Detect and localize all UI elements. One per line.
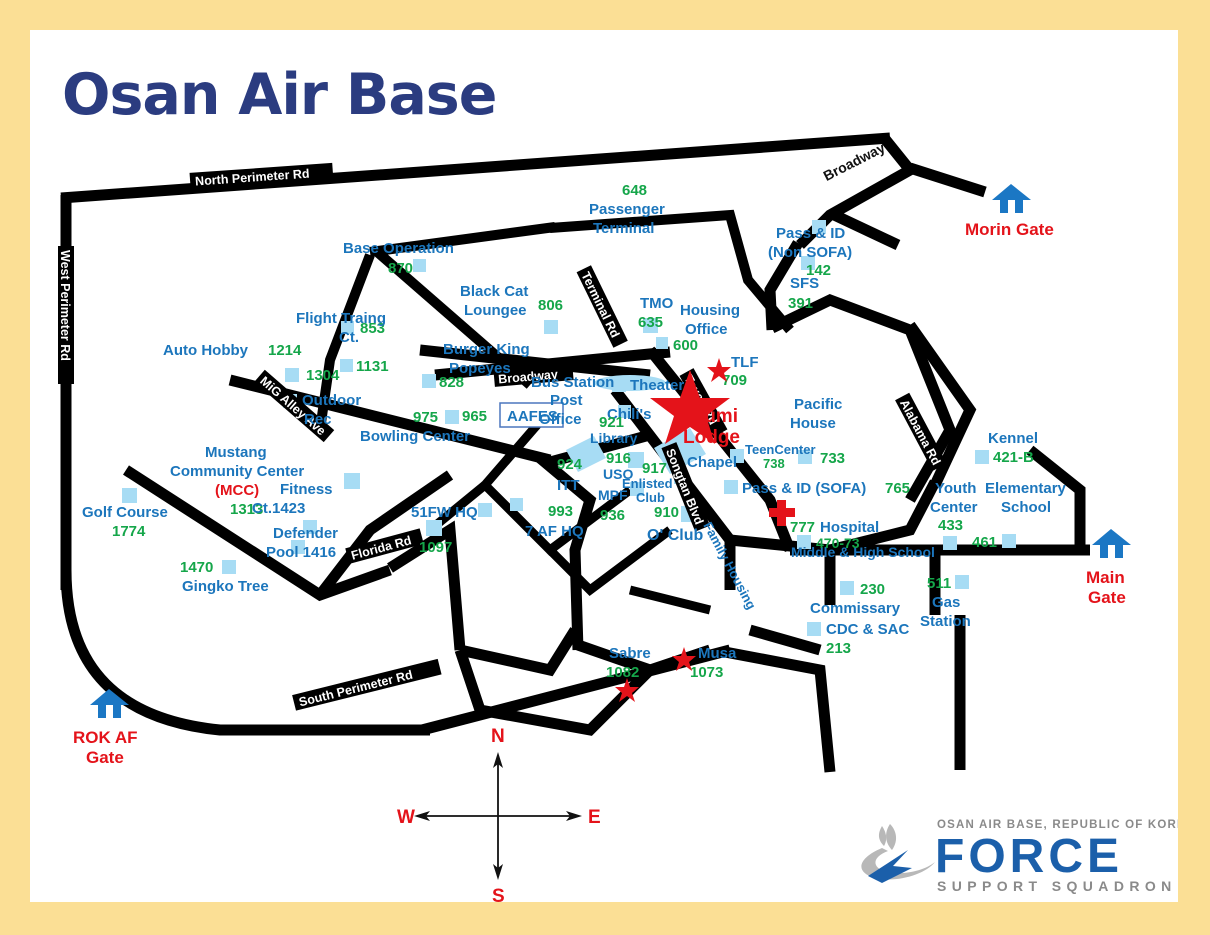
label-sabre: Sabre: [609, 645, 651, 662]
label-870: 870: [388, 260, 413, 277]
building-975: [445, 410, 459, 424]
label-outdoor-rec-2: Rec: [304, 411, 332, 428]
road-label-south-perimeter: South Perimeter Rd: [297, 668, 414, 710]
compass-west: W: [397, 807, 415, 828]
label-housing-1: Housing: [680, 302, 740, 319]
label-bowling-center: Bowling Center: [360, 428, 470, 445]
label-1082: 1082: [606, 664, 639, 681]
road-sabre-loop-w: [460, 630, 575, 670]
label-511: 511: [927, 575, 951, 592]
label-commissary: Commissary: [810, 600, 901, 617]
label-kennel: Kennel: [988, 430, 1038, 447]
label-burger-king: Burger King: [443, 341, 530, 358]
gate-arch-icon: [1092, 529, 1131, 558]
label-musa: Musa: [698, 645, 737, 662]
label-post-office-1: Post: [550, 392, 583, 409]
label-993: 993: [548, 503, 573, 520]
label-defender-1: Defender: [273, 525, 338, 542]
label-910: 910: [654, 504, 679, 521]
label-auto-hobby: Auto Hobby: [163, 342, 249, 359]
label-gas-2: Station: [920, 613, 971, 630]
label-1131: 1131: [356, 358, 389, 375]
label-635: 635: [638, 314, 663, 331]
label-tlf: TLF: [731, 354, 759, 371]
road-label-terminal-rd: Terminal Rd: [578, 270, 622, 340]
label-230: 230: [860, 581, 885, 598]
compass-north: N: [491, 726, 505, 747]
label-passenger-1: Passenger: [589, 201, 665, 218]
label-enlisted-2: Club: [636, 490, 665, 505]
label-itt: ITT: [557, 477, 580, 494]
label-936: 936: [600, 507, 625, 524]
building-1097: [426, 520, 442, 536]
label-middle-high-school: Middle & High School: [791, 544, 935, 560]
label-51fw-hq: 51FW HQ: [411, 504, 478, 521]
label-917: 917: [642, 460, 667, 477]
label-black-cat-2: Loungee: [464, 302, 527, 319]
building-421b: [975, 450, 989, 464]
label-flight-training-2: Ct.: [339, 329, 359, 346]
road-north-perimeter: [61, 138, 890, 198]
building-765: [724, 480, 738, 494]
compass-east: E: [588, 807, 601, 828]
building-993: [478, 503, 492, 517]
label-elementary-1: Elementary: [985, 480, 1067, 497]
label-738: 738: [763, 456, 785, 471]
logo-bottom-line: SUPPORT SQUADRON: [937, 878, 1177, 894]
label-teencenter: TeenCenter: [745, 442, 816, 457]
label-1774: 1774: [112, 523, 146, 540]
building-213: [807, 622, 821, 636]
gate-arch-icon: [992, 184, 1031, 213]
label-924: 924: [557, 456, 583, 473]
building-230: [840, 581, 854, 595]
label-470-73: 470-73: [816, 535, 860, 551]
label-mustang-1: Mustang: [205, 444, 267, 461]
label-916: 916: [606, 450, 631, 467]
label-421-b: 421-B: [993, 449, 1034, 466]
label-1214: 1214: [268, 342, 302, 359]
label-flight-training-1: Flight Traing: [296, 310, 386, 327]
label-pacific-2: House: [790, 415, 836, 432]
label-mustang-2: Community Center: [170, 463, 304, 480]
label-806: 806: [538, 297, 563, 314]
label-213: 213: [826, 640, 851, 657]
building-1131: [340, 359, 353, 372]
label-142: 142: [806, 262, 831, 279]
label-passid-nonsofa-1: Pass & ID: [776, 225, 845, 242]
label-youth-2: Center: [930, 499, 978, 516]
label-777: 777: [790, 519, 815, 536]
label-733: 733: [820, 450, 845, 467]
label-cdc-sac: CDC & SAC: [826, 621, 910, 638]
road-morin-spur-upper: [910, 168, 985, 192]
label-1304: 1304: [306, 367, 340, 384]
label-golf-course: Golf Course: [82, 504, 168, 521]
label-600: 600: [673, 337, 698, 354]
label-bus-station: Bus Station: [531, 374, 614, 391]
label-youth-1: Youth: [935, 480, 976, 497]
building-1470: [222, 560, 236, 574]
label-o-club: O' Club: [647, 527, 703, 544]
road-label-west-perimeter: West Perimeter Rd: [58, 250, 72, 361]
label-pacific-1: Pacific: [794, 396, 842, 413]
base-map[interactable]: North Perimeter Rd West Perimeter Rd Sou…: [30, 30, 1178, 902]
compass-rose: N S E W: [397, 726, 601, 902]
building-600: [656, 337, 668, 349]
building-433: [943, 536, 957, 550]
road-south-east-leg: [725, 652, 830, 772]
building-1304: [285, 368, 299, 382]
label-outdoor-rec-1: Outdoor: [302, 392, 361, 409]
label-elementary-2: School: [1001, 499, 1051, 516]
label-fitness-2: Ct.1423: [252, 500, 305, 517]
label-passenger-2: Terminal: [593, 220, 654, 237]
label-965: 965: [462, 408, 487, 425]
label-housing-2: Office: [685, 321, 728, 338]
label-921: 921: [599, 414, 624, 431]
building-936: [510, 498, 523, 511]
label-975: 975: [413, 409, 438, 426]
main-gate[interactable]: Main Gate: [1086, 529, 1131, 607]
label-mcc: (MCC): [215, 482, 259, 499]
road-family-housing-rd: [630, 590, 710, 610]
building-870: [413, 259, 426, 272]
label-hospital: Hospital: [820, 519, 879, 536]
label-fitness-1: Fitness: [280, 481, 333, 498]
label-passid-nonsofa-2: (Non SOFA): [768, 244, 852, 261]
label-7-af-hq: 7 AF HQ: [525, 523, 584, 540]
label-post-office-2: Office: [539, 411, 582, 428]
logo-force-text: FORCE: [935, 830, 1123, 883]
label-base-operation: Base Operation: [343, 240, 454, 257]
label-rokaf-gate-2: Gate: [86, 748, 124, 767]
label-main-gate-2: Gate: [1088, 588, 1126, 607]
label-rokaf-gate-1: ROK AF: [73, 728, 138, 747]
label-391: 391: [788, 295, 813, 312]
label-461: 461: [972, 534, 997, 551]
label-648: 648: [622, 182, 647, 199]
label-enlisted-1: Enlisted: [622, 476, 673, 491]
building-828: [422, 374, 436, 388]
label-765: 765: [885, 480, 910, 497]
compass-south: S: [492, 886, 505, 902]
label-gas-1: Gas: [932, 594, 960, 611]
label-tmo: TMO: [640, 295, 674, 312]
label-1073: 1073: [690, 664, 723, 681]
label-chapel: Chapel: [687, 454, 737, 471]
building-1774: [122, 488, 137, 503]
label-passid-sofa: Pass & ID (SOFA): [742, 480, 866, 497]
label-morin-gate: Morin Gate: [965, 220, 1054, 239]
label-theater: Theater: [630, 377, 684, 394]
label-main-gate-1: Main: [1086, 568, 1125, 587]
label-433: 433: [938, 517, 963, 534]
fss-logo: OSAN AIR BASE, REPUBLIC OF KOREA FORCE S…: [861, 819, 1178, 894]
building-461: [1002, 534, 1016, 548]
building-511: [955, 575, 969, 589]
label-black-cat-1: Black Cat: [460, 283, 528, 300]
label-defender-2: Pool 1416: [266, 544, 336, 561]
label-library: Library: [590, 430, 638, 446]
label-1470: 1470: [180, 559, 213, 576]
map-frame: Osan Air Base: [30, 30, 1178, 902]
label-gingko-tree: Gingko Tree: [182, 578, 269, 595]
building-1313: [344, 473, 360, 489]
label-828: 828: [439, 374, 464, 391]
building-806: [544, 320, 558, 334]
label-1097: 1097: [419, 539, 452, 556]
